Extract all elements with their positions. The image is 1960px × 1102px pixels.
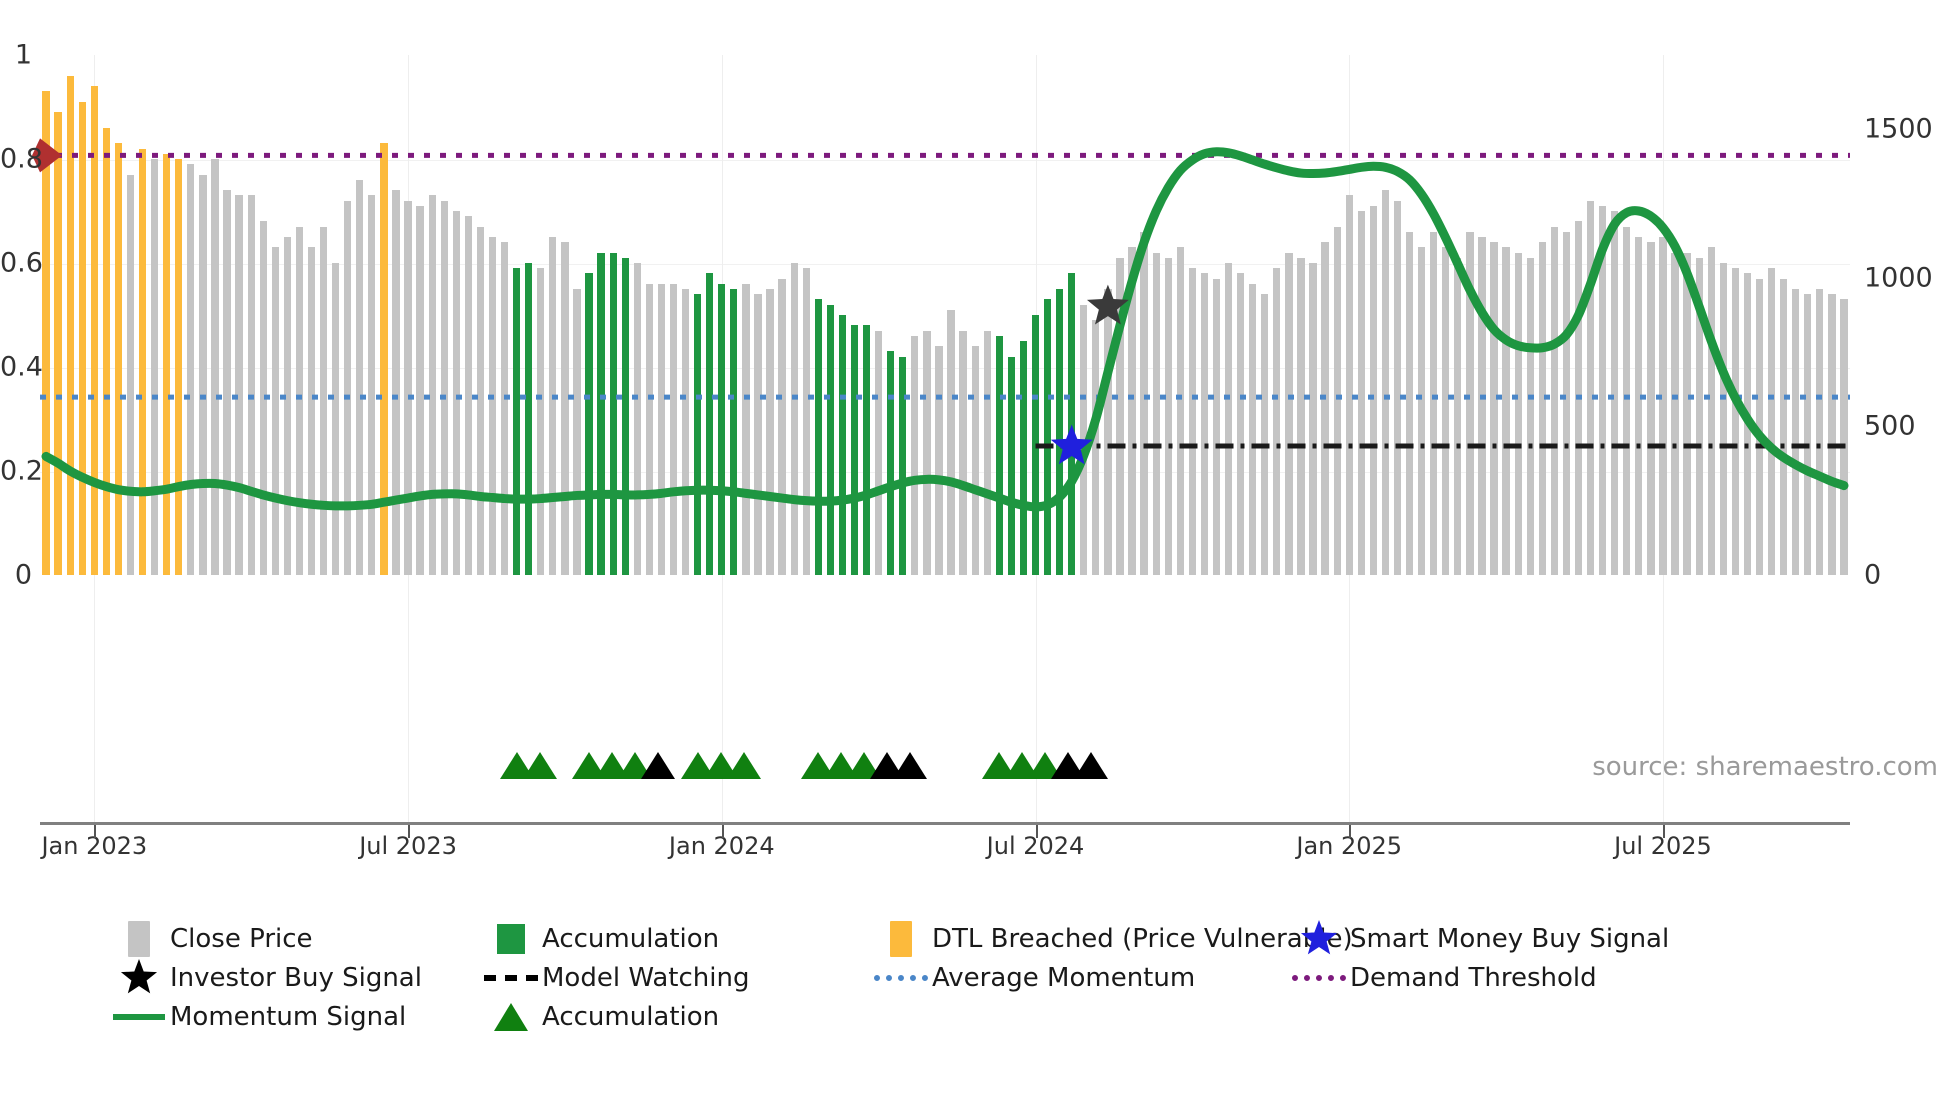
legend-label: Average Momentum [932,963,1195,993]
accumulation-bar-swatch-glyph [497,924,525,954]
legend-label: Model Watching [542,963,749,993]
momentum-signal-swatch [108,1014,170,1020]
accumulation-triangle-green [523,752,557,779]
y-right-tick: 1500 [1864,114,1960,145]
y-right-tick: 500 [1864,411,1960,442]
y-left-tick: 0.8 [0,144,32,175]
y-right-tick: 0 [1864,560,1960,591]
chart-root: 10.80.60.40.20 150010005000 Jan 2023Jul … [0,0,1960,1102]
legend-item-dtl-breached[interactable]: DTL Breached (Price Vulnerable) [870,920,1353,958]
legend-item-momentum-signal[interactable]: Momentum Signal [108,998,406,1036]
x-axis-tick-mark [408,825,410,838]
x-axis-tick-mark [94,825,96,838]
legend-item-accumulation-triangle[interactable]: Accumulation [480,998,719,1036]
legend-label: Smart Money Buy Signal [1350,924,1669,954]
accumulation-triangle-swatch [480,1003,542,1031]
smart-money-star-swatch [1288,919,1350,959]
accumulation-triangle-swatch-glyph [494,1003,528,1031]
legend-label: Accumulation [542,924,719,954]
x-axis-tick-mark [1349,825,1351,838]
legend-item-demand-threshold[interactable]: Demand Threshold [1288,959,1597,997]
demand-threshold-swatch [1288,975,1350,981]
demand-threshold-swatch-glyph [1292,975,1346,981]
y-left-tick: 0 [0,560,32,591]
accumulation-triangle-black [641,752,675,779]
y-left-tick: 0.6 [0,248,32,279]
x-axis-tick-mark [722,825,724,838]
y-left-tick: 1 [0,40,32,71]
x-axis-line [40,822,1850,825]
legend-item-average-momentum[interactable]: Average Momentum [870,959,1195,997]
accumulation-triangle-black [1074,752,1108,779]
y-left-tick: 0.4 [0,352,32,383]
accumulation-bar-swatch [480,924,542,954]
average-momentum-swatch [870,975,932,981]
legend-label: Demand Threshold [1350,963,1597,993]
x-axis-tick-mark [1036,825,1038,838]
legend-item-investor-star[interactable]: Investor Buy Signal [108,959,422,997]
investor-star-swatch [108,958,170,998]
legend-label: Accumulation [542,1002,719,1032]
dtl-breached-swatch [870,921,932,957]
model-watching-swatch-glyph [484,975,538,981]
x-axis-tick-mark [1663,825,1665,838]
accumulation-triangle-green [727,752,761,779]
legend-item-smart-money-star[interactable]: Smart Money Buy Signal [1288,920,1669,958]
legend-item-accumulation-bar[interactable]: Accumulation [480,920,719,958]
close-price-swatch-glyph [128,921,150,957]
close-price-swatch [108,921,170,957]
model-watching-swatch [480,975,542,981]
legend-item-model-watching[interactable]: Model Watching [480,959,749,997]
y-left-tick: 0.2 [0,456,32,487]
dtl-breached-swatch-glyph [890,921,912,957]
legend-label: Momentum Signal [170,1002,406,1032]
accumulation-triangle-black [893,752,927,779]
legend-label: Investor Buy Signal [170,963,422,993]
investor-star-swatch-glyph [119,958,159,998]
y-right-tick: 1000 [1864,262,1960,293]
line-momentum-signal [46,152,1844,507]
average-momentum-swatch-glyph [874,975,928,981]
momentum-signal-swatch-glyph [113,1014,165,1020]
source-note: source: sharemaestro.com [1592,752,1938,782]
legend-item-close-price[interactable]: Close Price [108,920,313,958]
legend-label: Close Price [170,924,313,954]
chart-legend: Close PriceAccumulationDTL Breached (Pri… [108,920,1908,1050]
smart-money-star-swatch-glyph [1299,919,1339,959]
